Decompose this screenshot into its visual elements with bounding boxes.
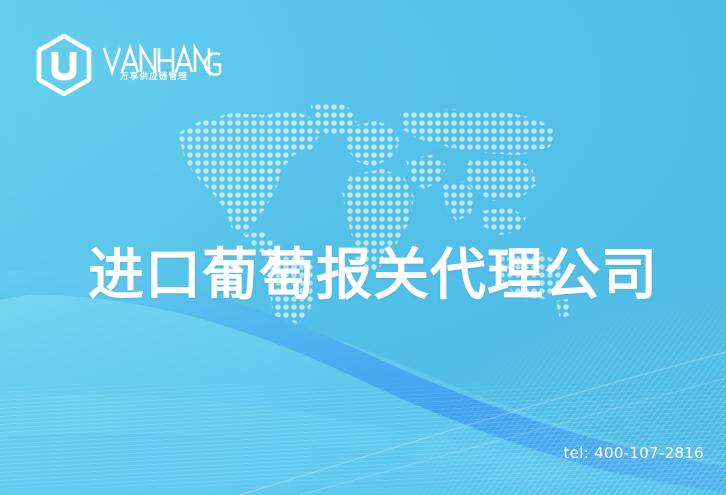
promotional-banner: 万享供应链管理 进口葡萄报关代理公司 tel: 400-107-2816 bbox=[0, 0, 726, 495]
contact-phone[interactable]: tel: 400-107-2816 bbox=[564, 444, 704, 462]
hexagon-shield-u-icon bbox=[34, 34, 94, 96]
page-title: 进口葡萄报关代理公司 bbox=[88, 248, 658, 304]
logo-subtitle: 万享供应链管理 bbox=[120, 70, 188, 82]
logo-wordmark-group: 万享供应链管理 bbox=[102, 42, 222, 88]
company-logo[interactable]: 万享供应链管理 bbox=[34, 35, 222, 95]
